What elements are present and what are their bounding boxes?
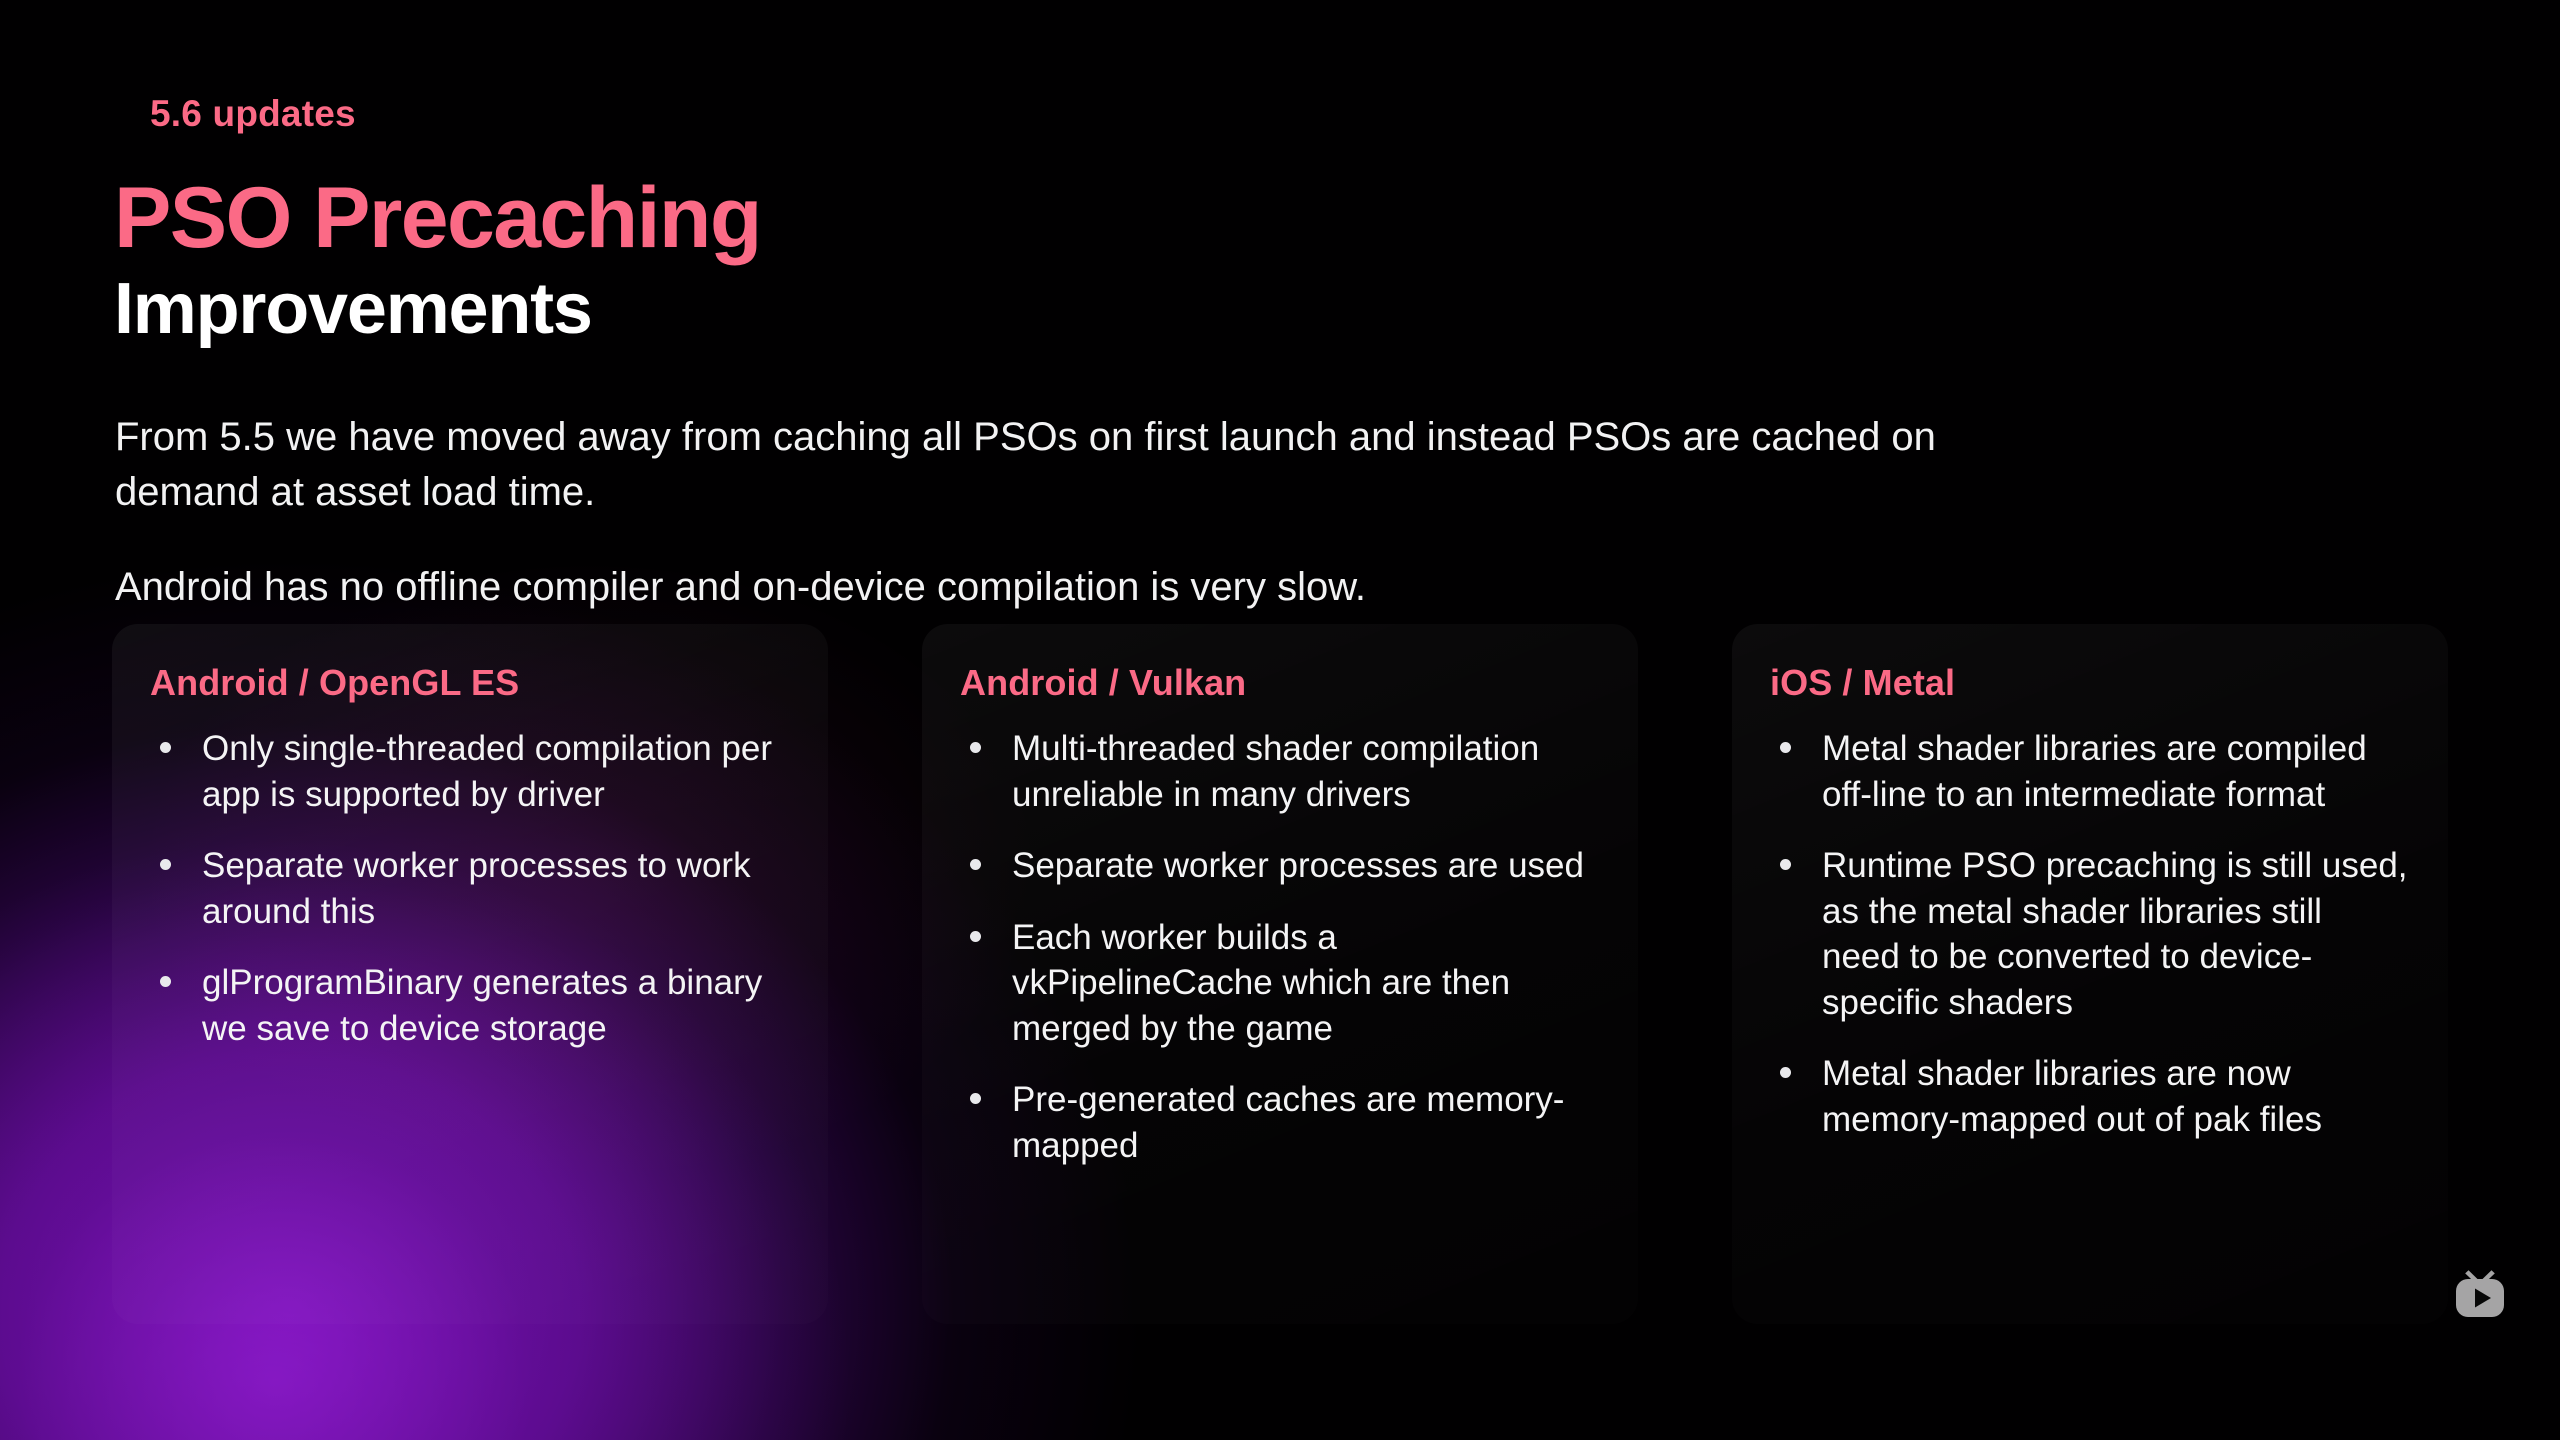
list-item-text: Each worker builds a vkPipelineCache whi… [1012,918,1510,1048]
list-item-text: Metal shader libraries are now memory-ma… [1822,1054,2322,1139]
list-item: Each worker builds a vkPipelineCache whi… [960,915,1598,1052]
list-item-text: glProgramBinary generates a binary we sa… [202,963,762,1048]
intro-paragraph-2: Android has no offline compiler and on-d… [115,560,1945,615]
list-item: Metal shader libraries are now memory-ma… [1770,1051,2408,1142]
platform-card-title: iOS / Metal [1770,662,2408,704]
page-title-line-2: Improvements [114,273,761,345]
platform-card-bullet-list: Multi-threaded shader compilation unreli… [960,726,1598,1168]
page-title-line-1: PSO Precaching [114,175,761,261]
platform-card-bullet-list: Metal shader libraries are compiled off-… [1770,726,2408,1142]
list-item-text: Pre-generated caches are memory-mapped [1012,1080,1564,1165]
bullet-dot-icon [970,1093,981,1104]
slide-eyebrow: 5.6 updates [150,93,356,135]
list-item: Separate worker processes are used [960,843,1598,889]
tv-play-watermark [2448,1264,2512,1328]
list-item-text: Multi-threaded shader compilation unreli… [1012,729,1539,814]
list-item: Pre-generated caches are memory-mapped [960,1077,1598,1168]
platform-columns: Android / OpenGL ES Only single-threaded… [112,624,2448,1324]
page-title: PSO Precaching Improvements [114,175,761,345]
intro-paragraph-1: From 5.5 we have moved away from caching… [115,410,1945,520]
platform-card-android-vulkan: Android / Vulkan Multi-threaded shader c… [922,624,1638,1324]
list-item-text: Separate worker processes are used [1012,846,1584,885]
bullet-dot-icon [160,976,171,987]
presentation-slide: 5.6 updates PSO Precaching Improvements … [0,0,2560,1440]
platform-card-title: Android / Vulkan [960,662,1598,704]
list-item: Multi-threaded shader compilation unreli… [960,726,1598,817]
list-item: Runtime PSO precaching is still used, as… [1770,843,2408,1025]
bullet-dot-icon [160,859,171,870]
platform-card-title: Android / OpenGL ES [150,662,788,704]
list-item: Only single-threaded compilation per app… [150,726,788,817]
list-item-text: Metal shader libraries are compiled off-… [1822,729,2367,814]
list-item-text: Separate worker processes to work around… [202,846,751,931]
bullet-dot-icon [160,742,171,753]
list-item: Metal shader libraries are compiled off-… [1770,726,2408,817]
list-item-text: Only single-threaded compilation per app… [202,729,772,814]
bullet-dot-icon [970,742,981,753]
intro-text-block: From 5.5 we have moved away from caching… [115,410,1945,614]
list-item: glProgramBinary generates a binary we sa… [150,960,788,1051]
tv-play-icon [2448,1264,2512,1328]
bullet-dot-icon [1780,859,1791,870]
platform-card-ios-metal: iOS / Metal Metal shader libraries are c… [1732,624,2448,1324]
bullet-dot-icon [970,859,981,870]
platform-card-android-opengles: Android / OpenGL ES Only single-threaded… [112,624,828,1324]
platform-card-bullet-list: Only single-threaded compilation per app… [150,726,788,1051]
bullet-dot-icon [1780,1067,1791,1078]
list-item: Separate worker processes to work around… [150,843,788,934]
bullet-dot-icon [1780,742,1791,753]
bullet-dot-icon [970,931,981,942]
list-item-text: Runtime PSO precaching is still used, as… [1822,846,2408,1022]
